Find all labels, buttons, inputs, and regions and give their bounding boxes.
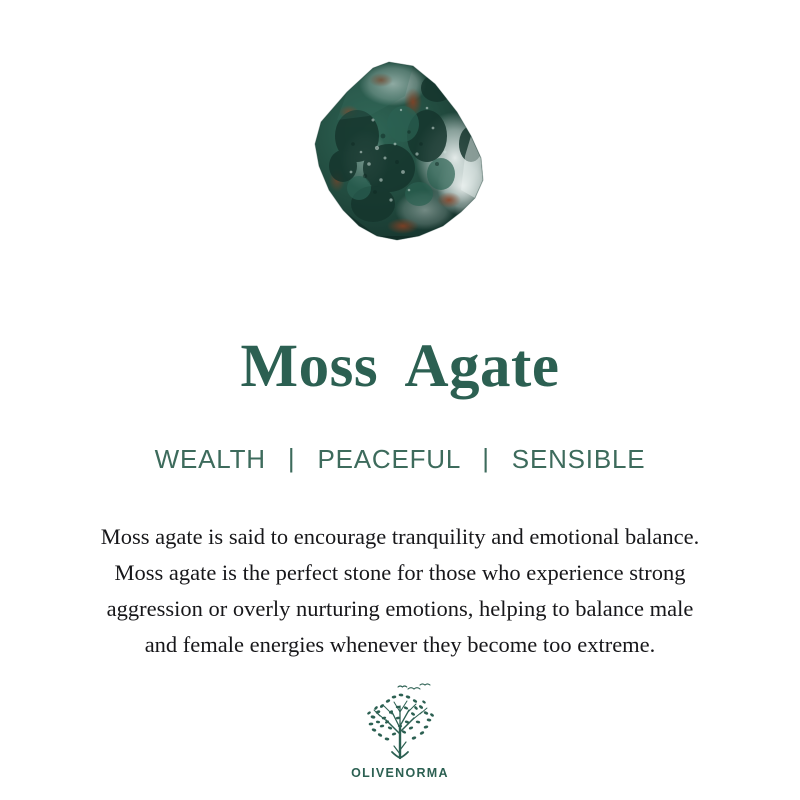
brand-name: OLIVENORMA [351, 766, 449, 780]
keyword-sensible: SENSIBLE [512, 444, 646, 474]
olive-tree-icon [354, 682, 446, 764]
description-line: Moss agate is the perfect stone for thos… [0, 555, 800, 591]
description-text: Moss agate is said to encourage tranquil… [0, 519, 800, 663]
keyword-list: WEALTH | PEACEFUL | SENSIBLE [0, 444, 800, 475]
stone-body [285, 40, 515, 260]
keyword-separator: | [274, 443, 310, 474]
keyword-peaceful: PEACEFUL [317, 444, 460, 474]
description-line: and female energies whenever they become… [0, 627, 800, 663]
description-line: aggression or overly nurturing emotions,… [0, 591, 800, 627]
brand-logo: OLIVENORMA [0, 682, 800, 780]
keyword-wealth: WEALTH [155, 444, 266, 474]
page-title: Moss Agate [0, 335, 800, 399]
description-line: Moss agate is said to encourage tranquil… [0, 519, 800, 555]
moss-agate-stone-image [285, 40, 515, 260]
stone-image-container [0, 0, 800, 300]
birds-icon [398, 684, 430, 689]
keyword-separator: | [468, 443, 504, 474]
stone-info-card: Moss Agate WEALTH | PEACEFUL | SENSIBLE … [0, 0, 800, 800]
